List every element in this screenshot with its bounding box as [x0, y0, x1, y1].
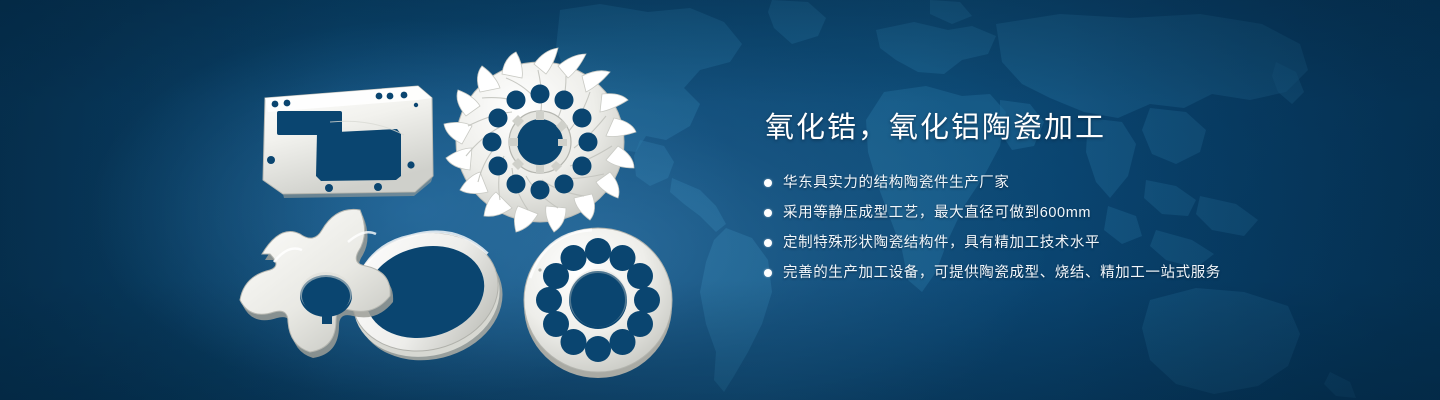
- banner-copy-block: 氧化锆，氧化铝陶瓷加工 华东具实力的结构陶瓷件生产厂家 采用等静压成型工艺，最大…: [764, 108, 1404, 290]
- hero-banner: 氧化锆，氧化铝陶瓷加工 华东具实力的结构陶瓷件生产厂家 采用等静压成型工艺，最大…: [0, 0, 1440, 400]
- feature-list: 华东具实力的结构陶瓷件生产厂家 采用等静压成型工艺，最大直径可做到600mm 定…: [764, 170, 1404, 286]
- list-item: 华东具实力的结构陶瓷件生产厂家: [764, 170, 1404, 196]
- ceramic-plate-icon: [263, 86, 433, 198]
- bullet-dot-icon: [764, 269, 772, 277]
- bullet-dot-icon: [764, 239, 772, 247]
- feature-text: 定制特殊形状陶瓷结构件，具有精加工技术水平: [783, 230, 1100, 256]
- feature-text: 华东具实力的结构陶瓷件生产厂家: [783, 170, 1010, 196]
- page-title: 氧化锆，氧化铝陶瓷加工: [765, 108, 1404, 148]
- bullet-dot-icon: [764, 179, 772, 187]
- list-item: 采用等静压成型工艺，最大直径可做到600mm: [764, 200, 1404, 226]
- ceramic-perforated-disc-icon: [524, 228, 672, 378]
- feature-text: 采用等静压成型工艺，最大直径可做到600mm: [783, 200, 1091, 226]
- list-item: 完善的生产加工设备，可提供陶瓷成型、烧结、精加工一站式服务: [764, 260, 1404, 286]
- bullet-dot-icon: [764, 209, 772, 217]
- product-photo-cluster: [0, 0, 740, 400]
- feature-text: 完善的生产加工设备，可提供陶瓷成型、烧结、精加工一站式服务: [783, 260, 1221, 286]
- list-item: 定制特殊形状陶瓷结构件，具有精加工技术水平: [764, 230, 1404, 256]
